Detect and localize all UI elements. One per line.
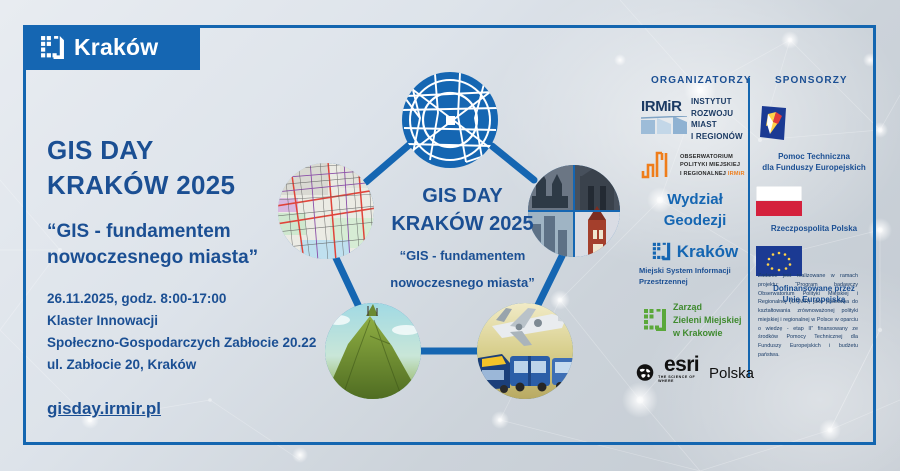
esri-wordmark: esri <box>664 356 699 374</box>
fundusze-caption: Pomoc Techniczna dla Funduszy Europejski… <box>756 152 872 174</box>
organizers-column: IRMiR INSTYTUT ROZWOJU MIAST I REGIONÓW <box>636 96 754 392</box>
msip-line-1: Miejski System Informacji <box>639 265 754 276</box>
zzm-line-3: w Krakowie <box>673 327 742 340</box>
diagram-centre-text: GIS DAY KRAKÓW 2025 “GIS - fundamentem n… <box>360 183 565 292</box>
fundusze-caption-line-2: dla Funduszy Europejskich <box>756 163 872 174</box>
esri-polska-suffix: Polska <box>709 366 754 383</box>
centre-quote-line-1: “GIS - fundamentem <box>360 247 565 265</box>
obserwatorium-name: OBSERWATORIUM POLITYKI MIEJSKIEJ I REGIO… <box>680 153 745 178</box>
krakow-msip-lockup: Kraków <box>636 242 754 262</box>
krakow-pixel-mark-icon <box>652 242 671 261</box>
msip-line-2: Przestrzennej <box>639 276 754 287</box>
fundusze-caption-line-1: Pomoc Techniczna <box>756 152 872 163</box>
obserwatorium-chart-icon <box>641 151 675 179</box>
organizers-heading: ORGANIZATORZY <box>651 75 752 86</box>
pentagon-diagram: GIS DAY KRAKÓW 2025 “GIS - fundamentem n… <box>270 58 630 413</box>
polish-flag-icon <box>756 186 802 216</box>
funding-fine-print: Zadanie jest realizowane w ramach projek… <box>758 272 858 360</box>
krakow-pixel-mark-icon <box>40 35 65 60</box>
krakow-msip-logo: Kraków Miejski System Informacji Przestr… <box>636 242 754 288</box>
fundusze-europejskie-logo: Pomoc Techniczna dla Funduszy Europejski… <box>756 104 872 174</box>
irmir-mark-icon <box>641 116 687 134</box>
zzm-line-1: Zarząd <box>673 301 742 314</box>
irmir-fullname: INSTYTUT ROZWOJU MIAST I REGIONÓW <box>691 96 754 142</box>
obs-badge: IRMiR <box>728 171 745 177</box>
wydzial-geodezji: Wydział Geodezji <box>636 190 754 231</box>
wydzial-line-2: Geodezji <box>636 211 754 231</box>
centre-title-line-1: GIS DAY <box>360 183 565 211</box>
irmir-name-line-3: I REGIONÓW <box>691 131 754 143</box>
esri-polska-logo: esri THE SCIENCE OF WHERE Polska <box>636 356 754 383</box>
krakow-wordmark: Kraków <box>74 34 158 61</box>
zzm-line-2: Zieleni Miejskiej <box>673 314 742 327</box>
sponsors-heading: SPONSORZY <box>775 75 848 86</box>
irmir-name-line-1: INSTYTUT <box>691 96 754 108</box>
krakow-wordmark: Kraków <box>677 242 738 262</box>
centre-title-line-2: KRAKÓW 2025 <box>360 211 565 239</box>
irmir-name-line-2: ROZWOJU MIAST <box>691 108 754 131</box>
event-website-link[interactable]: gisday.irmir.pl <box>47 399 161 419</box>
polska-caption: Rzeczpospolita Polska <box>756 224 872 235</box>
polish-flag-logo: Rzeczpospolita Polska <box>756 186 872 235</box>
obs-line-3-wrap: I REGIONALNEJ IRMiR <box>680 170 745 178</box>
obs-line-3: I REGIONALNEJ <box>680 171 726 177</box>
wydzial-line-1: Wydział <box>636 190 754 210</box>
irmir-acronym: IRMiR <box>641 99 687 114</box>
zzm-pixel-mark-icon <box>643 308 667 332</box>
krakow-header-logo: Kraków <box>23 25 200 70</box>
zarzad-zieleni-miejskiej-logo: Zarząd Zieleni Miejskiej w Krakowie <box>636 301 754 339</box>
obs-line-2: POLITYKI MIEJSKIEJ <box>680 161 745 169</box>
centre-quote-line-2: nowoczesnego miasta” <box>360 274 565 292</box>
obserwatorium-logo: OBSERWATORIUM POLITYKI MIEJSKIEJ I REGIO… <box>636 151 754 179</box>
fundusze-europejskie-icon <box>756 104 792 144</box>
irmir-logo: IRMiR INSTYTUT ROZWOJU MIAST I REGIONÓW <box>636 96 754 142</box>
obs-line-1: OBSERWATORIUM <box>680 153 745 161</box>
esri-tagline: THE SCIENCE OF WHERE <box>658 375 705 383</box>
esri-globe-icon <box>636 362 654 383</box>
msip-name: Miejski System Informacji Przestrzennej <box>636 265 754 288</box>
poster: Kraków GIS DAY KRAKÓW 2025 “GIS - fundam… <box>0 0 900 471</box>
polska-caption-line-1: Rzeczpospolita Polska <box>756 224 872 235</box>
zzm-name: Zarząd Zieleni Miejskiej w Krakowie <box>673 301 742 339</box>
